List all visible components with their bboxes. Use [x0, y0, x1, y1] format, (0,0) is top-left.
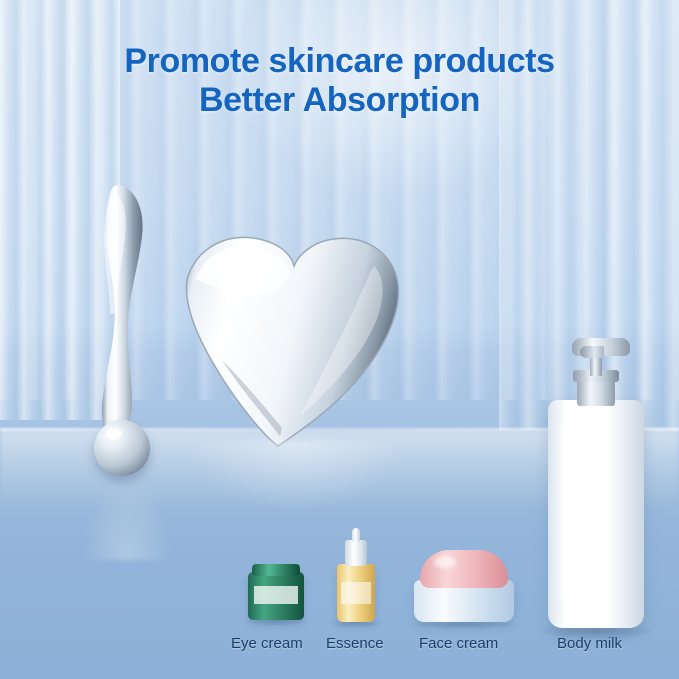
jar-lid — [420, 550, 508, 588]
essence-bottle — [331, 524, 381, 624]
gua-sha-stick-reflection — [82, 470, 172, 560]
gua-sha-stick-ball-highlight — [106, 428, 122, 439]
gua-sha-stick-ball — [94, 420, 150, 476]
essence-dropper-cap — [345, 540, 367, 566]
jar-lid-highlight — [434, 556, 456, 568]
gua-sha-stick — [76, 180, 186, 510]
essence-dropper-tip — [352, 528, 360, 542]
bottle-pump-head — [572, 338, 630, 356]
gua-sha-plate — [178, 222, 408, 462]
eye-cream-jar — [248, 562, 304, 624]
body-milk-bottle — [548, 336, 644, 632]
headline: Promote skincare products Better Absorpt… — [0, 42, 679, 121]
eye-cream-cap — [252, 564, 300, 576]
headline-line-2: Better Absorption — [0, 81, 679, 120]
caption-face-cream: Face cream — [419, 635, 498, 652]
caption-body-milk: Body milk — [557, 635, 622, 652]
headline-line-1: Promote skincare products — [124, 42, 554, 80]
bottle-pump-nozzle — [580, 346, 604, 358]
caption-essence: Essence — [326, 635, 384, 652]
bottle-highlight — [562, 426, 572, 596]
face-cream-jar — [414, 548, 514, 624]
eye-cream-label — [254, 586, 298, 604]
caption-eye-cream: Eye cream — [231, 635, 303, 652]
essence-label — [341, 582, 371, 604]
product-image-scene: Promote skincare products Better Absorpt… — [0, 0, 679, 679]
gua-sha-plate-reflection — [190, 440, 400, 510]
